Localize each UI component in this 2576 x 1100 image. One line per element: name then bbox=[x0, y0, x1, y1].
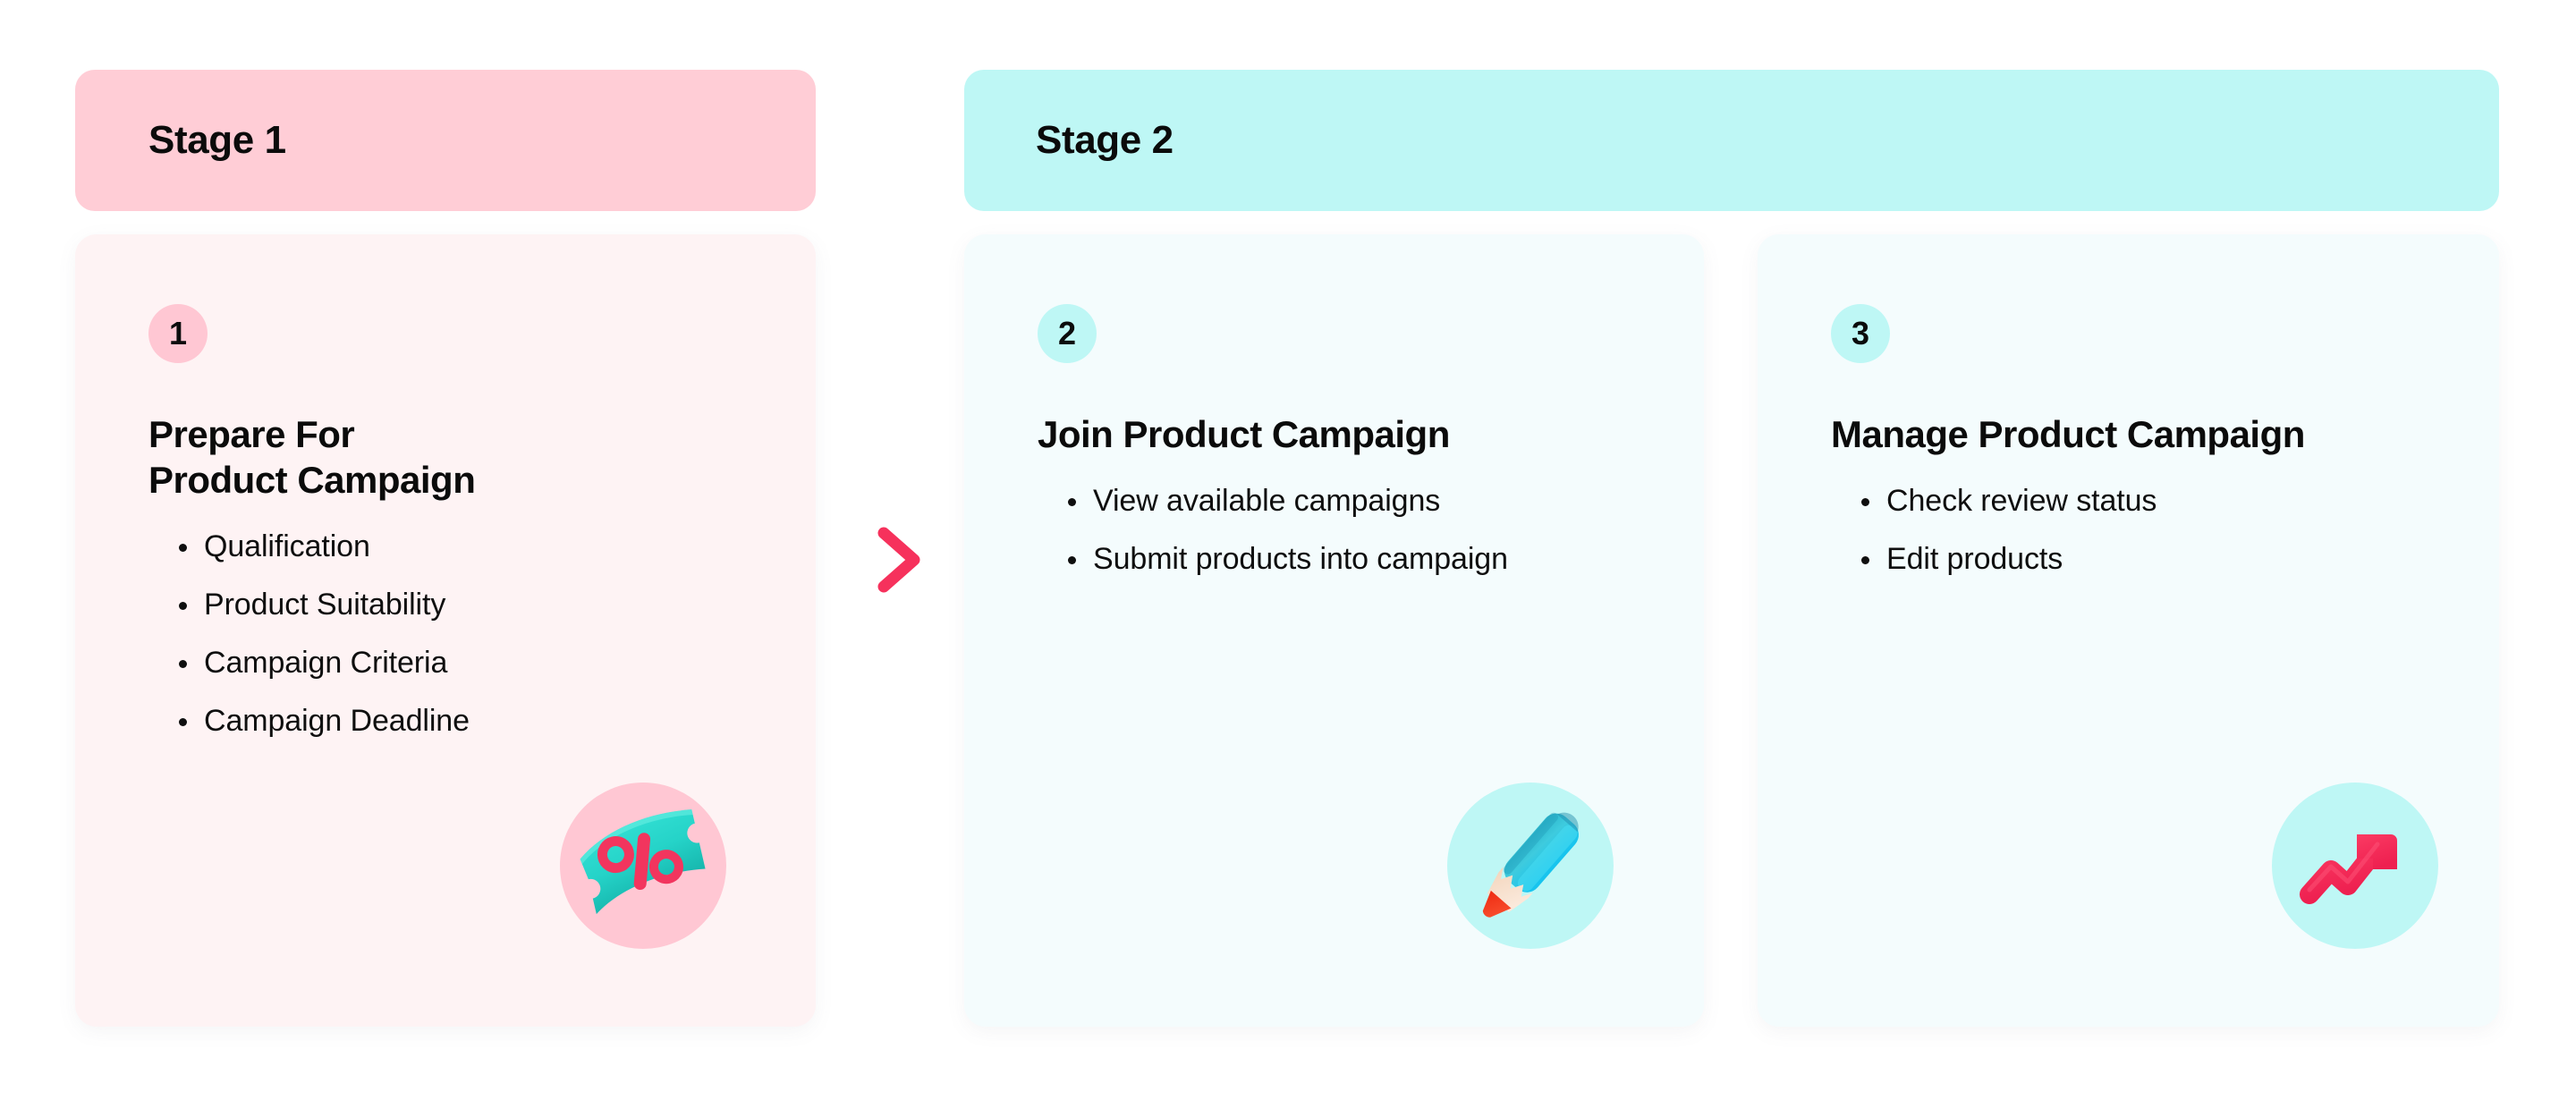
discount-coupon-icon bbox=[560, 783, 726, 949]
step-title-1: Prepare For Product Campaign bbox=[148, 411, 753, 503]
campaign-stages-board: Stage 1 Stage 2 1 Prepare For Product Ca… bbox=[0, 0, 2576, 1100]
list-item: Qualification bbox=[179, 531, 753, 563]
step-number-2: 2 bbox=[1058, 317, 1076, 350]
list-item: Campaign Criteria bbox=[179, 647, 753, 680]
step-badge-2: 2 bbox=[1038, 304, 1097, 363]
stage-2-label: Stage 2 bbox=[1036, 121, 1174, 160]
step-number-1: 1 bbox=[169, 317, 187, 350]
stage-1-label: Stage 1 bbox=[148, 121, 286, 160]
list-item: View available campaigns bbox=[1068, 486, 1641, 518]
list-item: Edit products bbox=[1861, 544, 2436, 576]
step-list-1: Qualification Product Suitability Campai… bbox=[148, 531, 753, 737]
chevron-right-icon bbox=[875, 526, 925, 594]
stage-header-1: Stage 1 bbox=[75, 70, 816, 211]
list-item: Product Suitability bbox=[179, 589, 753, 622]
step-badge-3: 3 bbox=[1831, 304, 1890, 363]
stage-header-2: Stage 2 bbox=[964, 70, 2499, 211]
stage-connector bbox=[875, 526, 925, 594]
step-list-3: Check review status Edit products bbox=[1831, 486, 2436, 575]
list-item: Check review status bbox=[1861, 486, 2436, 518]
step-title-3: Manage Product Campaign bbox=[1831, 411, 2436, 457]
list-item: Submit products into campaign bbox=[1068, 544, 1641, 576]
step-badge-1: 1 bbox=[148, 304, 208, 363]
step-number-3: 3 bbox=[1851, 317, 1869, 350]
step-title-2: Join Product Campaign bbox=[1038, 411, 1641, 457]
list-item: Campaign Deadline bbox=[179, 706, 753, 738]
trending-up-arrow-icon bbox=[2272, 783, 2438, 949]
pencil-icon bbox=[1447, 783, 1614, 949]
step-list-2: View available campaigns Submit products… bbox=[1038, 486, 1641, 575]
